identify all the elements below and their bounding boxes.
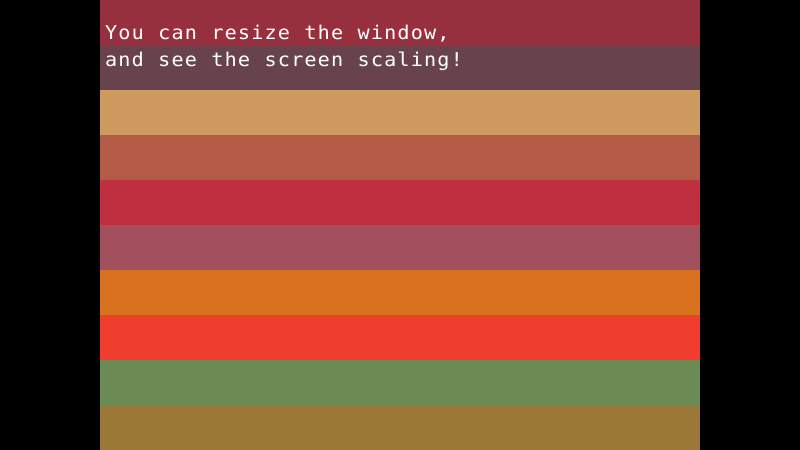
band-2-plum	[100, 45, 700, 90]
game-stage[interactable]: You can resize the window, and see the s…	[100, 0, 700, 450]
app-viewport: You can resize the window, and see the s…	[0, 0, 800, 450]
band-9-olive-green	[100, 360, 700, 405]
band-8-vermilion	[100, 315, 700, 360]
band-4-terracotta	[100, 135, 700, 180]
letterbox-bar-right	[700, 0, 800, 450]
band-5-crimson	[100, 180, 700, 225]
color-band-list	[100, 0, 700, 450]
band-10-ochre	[100, 405, 700, 450]
band-1-dark-crimson	[100, 0, 700, 45]
band-7-orange	[100, 270, 700, 315]
letterbox-bar-left	[0, 0, 100, 450]
band-3-tan	[100, 90, 700, 135]
band-6-dusty-rose	[100, 225, 700, 270]
